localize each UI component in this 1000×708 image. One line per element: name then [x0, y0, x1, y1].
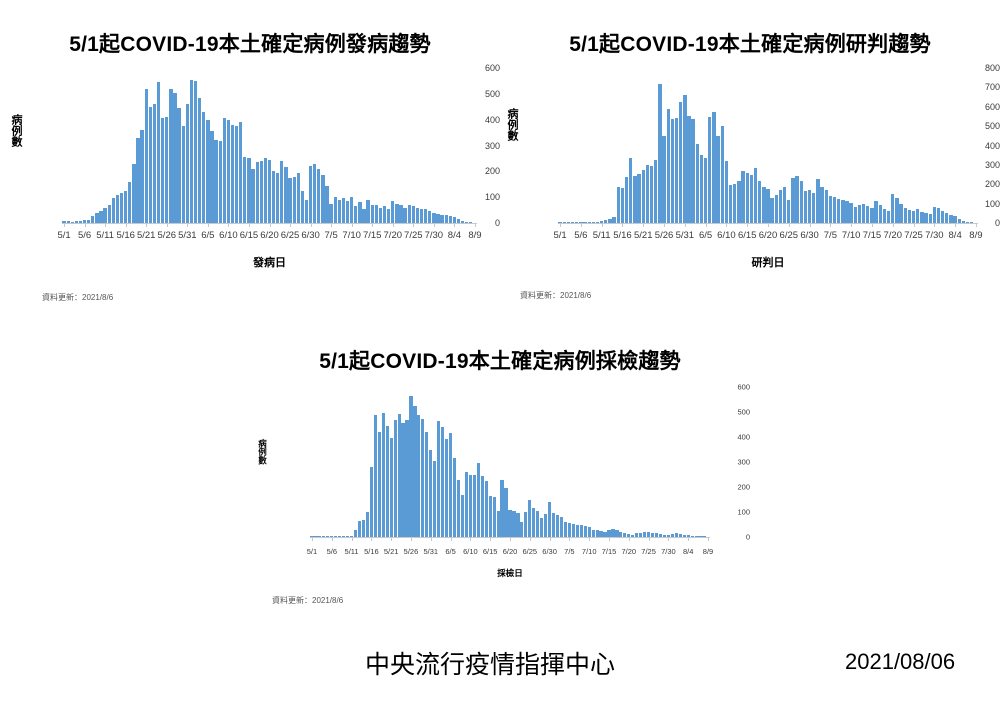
x-tick-mark — [434, 223, 435, 227]
x-tick-label: 7/25 — [641, 547, 656, 556]
bar — [675, 118, 678, 223]
x-tick-mark — [290, 223, 291, 227]
x-tick-label: 7/15 — [363, 230, 382, 241]
x-tick-label: 7/30 — [925, 230, 944, 241]
bar — [395, 204, 398, 223]
bar — [153, 104, 156, 223]
x-tick-mark — [589, 537, 590, 541]
x-tick-mark — [893, 223, 894, 227]
x-tick-mark — [629, 537, 630, 541]
x-tick-mark — [622, 223, 623, 227]
x-tick-mark — [768, 223, 769, 227]
bar — [912, 211, 915, 223]
x-tick-label: 7/15 — [863, 230, 882, 241]
chart-title-sampling: 5/1起COVID-19本土確定病例採檢趨勢 — [250, 345, 750, 375]
bar — [924, 213, 927, 223]
bar — [264, 158, 267, 223]
x-tick-mark — [581, 223, 582, 227]
chart-panel-sampling: 5/1起COVID-19本土確定病例採檢趨勢 病例數01002003004005… — [250, 345, 750, 630]
bar — [820, 187, 823, 223]
bar — [227, 120, 230, 223]
bar — [219, 141, 222, 223]
x-tick-mark — [976, 223, 977, 227]
x-tick-mark — [105, 223, 106, 227]
bar — [379, 208, 382, 224]
x-tick-label: 7/25 — [404, 230, 423, 241]
x-tick-label: 7/10 — [582, 547, 597, 556]
bar — [223, 118, 226, 223]
bar — [825, 190, 828, 223]
bar — [293, 177, 296, 224]
x-tick-mark — [470, 537, 471, 541]
x-tick-label: 6/30 — [800, 230, 819, 241]
bar — [95, 213, 98, 223]
bar — [457, 480, 460, 538]
bar — [424, 209, 427, 223]
bar — [721, 126, 724, 223]
bar — [362, 520, 365, 538]
bar — [140, 130, 143, 223]
bar — [413, 406, 416, 537]
bar — [783, 187, 786, 223]
bar — [186, 104, 189, 223]
bar — [256, 162, 259, 223]
bar — [568, 523, 571, 538]
x-axis-label-sampling: 採檢日 — [310, 567, 710, 579]
bar — [662, 136, 665, 223]
bar — [477, 463, 480, 537]
bar — [354, 206, 357, 223]
bar — [858, 205, 861, 223]
x-tick-mark — [431, 537, 432, 541]
bar — [235, 126, 238, 223]
bar — [374, 415, 377, 537]
bar — [532, 508, 535, 538]
bar — [637, 174, 640, 223]
x-tick-label: 5/11 — [96, 230, 114, 241]
bar — [845, 201, 848, 223]
chart-title-confirmation: 5/1起COVID-19本土確定病例研判趨勢 — [500, 28, 1000, 58]
x-tick-label: 8/4 — [949, 230, 962, 241]
bar — [149, 107, 152, 223]
bar — [528, 500, 531, 537]
bar — [390, 438, 393, 537]
x-tick-mark — [352, 223, 353, 227]
x-tick-mark — [747, 223, 748, 227]
x-tick-label: 6/25 — [780, 230, 799, 241]
bar — [231, 125, 234, 223]
x-tick-mark — [371, 537, 372, 541]
bar — [787, 200, 790, 223]
bar — [243, 157, 246, 223]
bar — [432, 213, 435, 223]
bar — [615, 530, 618, 537]
bar — [401, 423, 404, 537]
x-axis-label-onset: 發病日 — [62, 254, 477, 270]
bar — [214, 140, 217, 223]
x-tick-label: 6/5 — [201, 230, 214, 241]
x-axis-label-confirmation: 研判日 — [558, 254, 978, 270]
bar — [891, 194, 894, 223]
bar — [120, 193, 123, 223]
bar — [394, 420, 397, 537]
x-tick-mark — [475, 223, 476, 227]
bar — [696, 144, 699, 223]
bar — [297, 173, 300, 223]
bar — [520, 522, 523, 538]
bar — [391, 201, 394, 223]
chart-area-sampling: 病例數01002003004005006005/15/65/115/165/21… — [250, 377, 750, 612]
bar — [687, 116, 690, 223]
x-tick-mark — [560, 223, 561, 227]
bar — [754, 168, 757, 223]
bar — [173, 93, 176, 223]
chart-title-onset: 5/1起COVID-19本土確定病例發病趨勢 — [0, 28, 500, 58]
bar — [465, 472, 468, 537]
x-tick-label: 5/11 — [593, 230, 611, 241]
bar — [317, 169, 320, 223]
bar — [375, 205, 378, 223]
x-tick-mark — [668, 537, 669, 541]
x-tick-label: 6/15 — [483, 547, 498, 556]
x-tick-label: 6/10 — [219, 230, 238, 241]
x-tick-label: 6/20 — [503, 547, 518, 556]
bar — [190, 80, 193, 223]
bar — [338, 200, 341, 223]
bar — [268, 160, 271, 223]
bar — [251, 169, 254, 223]
x-tick-mark — [649, 537, 650, 541]
x-tick-label: 6/20 — [260, 230, 279, 241]
bar — [737, 181, 740, 223]
bar — [904, 208, 907, 223]
bar — [284, 167, 287, 223]
footer-organization: 中央流行疫情指揮中心 — [365, 645, 615, 681]
bar — [473, 475, 476, 537]
bar — [712, 112, 715, 223]
bar — [366, 200, 369, 223]
bar — [157, 82, 160, 223]
bar — [206, 120, 209, 223]
bar — [746, 173, 749, 223]
x-tick-mark — [664, 223, 665, 227]
bar — [804, 191, 807, 223]
x-tick-mark — [312, 537, 313, 541]
bar — [108, 205, 111, 223]
x-tick-label: 6/10 — [717, 230, 736, 241]
bar — [354, 530, 357, 537]
bar — [560, 517, 563, 537]
bar — [500, 480, 503, 537]
x-tick-label: 7/25 — [904, 230, 923, 241]
x-tick-mark — [332, 537, 333, 541]
bar — [658, 84, 661, 224]
update-note-confirmation: 資料更新：2021/8/6 — [520, 290, 591, 301]
bar — [161, 118, 164, 223]
x-tick-mark — [708, 537, 709, 541]
x-tick-label: 5/16 — [364, 547, 379, 556]
x-tick-mark — [187, 223, 188, 227]
x-tick-label: 6/30 — [301, 230, 320, 241]
bar — [576, 525, 579, 538]
x-tick-mark — [372, 223, 373, 227]
x-tick-mark — [352, 537, 353, 541]
x-tick-label: 6/15 — [240, 230, 259, 241]
x-tick-mark — [331, 223, 332, 227]
bar — [536, 511, 539, 537]
x-tick-label: 5/21 — [384, 547, 399, 556]
x-tick-label: 5/31 — [676, 230, 695, 241]
x-tick-label: 6/25 — [281, 230, 300, 241]
bar — [408, 205, 411, 223]
x-tick-label: 7/5 — [824, 230, 837, 241]
bar — [382, 413, 385, 537]
bar — [425, 432, 428, 537]
bar — [346, 201, 349, 223]
x-tick-mark — [688, 537, 689, 541]
bar — [841, 200, 844, 223]
x-tick-label: 5/6 — [574, 230, 587, 241]
chart-panel-confirmation: 5/1起COVID-19本土確定病例研判趨勢 病例數01002003004005… — [500, 28, 1000, 313]
x-tick-label: 6/5 — [699, 230, 712, 241]
bar — [169, 89, 172, 223]
bar — [708, 117, 711, 223]
x-tick-mark — [851, 223, 852, 227]
x-tick-label: 5/21 — [137, 230, 156, 241]
x-tick-label: 8/9 — [969, 230, 982, 241]
bar — [313, 164, 316, 223]
bar — [588, 527, 591, 538]
bar — [791, 178, 794, 223]
bar — [112, 198, 115, 223]
x-tick-label: 7/20 — [884, 230, 903, 241]
bar — [524, 512, 527, 537]
bar — [548, 502, 551, 537]
bar — [449, 433, 452, 538]
bar — [854, 207, 857, 223]
x-tick-label: 7/15 — [602, 547, 617, 556]
bar — [704, 158, 707, 223]
bar — [667, 109, 670, 223]
bar — [366, 512, 369, 537]
bar — [795, 176, 798, 223]
bar — [247, 158, 250, 223]
bar — [276, 173, 279, 223]
x-tick-mark — [643, 223, 644, 227]
chart-area-onset: 病例數01002003004005006005/15/65/115/165/21… — [0, 58, 500, 308]
bar — [417, 415, 420, 537]
bar — [800, 181, 803, 223]
x-tick-mark — [810, 223, 811, 227]
bar — [358, 521, 361, 537]
bar — [829, 196, 832, 223]
x-tick-mark — [609, 537, 610, 541]
bar — [280, 161, 283, 223]
bar — [182, 126, 185, 223]
bar — [272, 171, 275, 223]
x-tick-mark — [510, 537, 511, 541]
x-tick-label: 7/5 — [564, 547, 574, 556]
bar — [440, 215, 443, 223]
x-tick-mark — [550, 537, 551, 541]
bar — [437, 421, 440, 537]
x-tick-label: 7/5 — [325, 230, 338, 241]
x-tick-label: 5/11 — [345, 547, 359, 556]
bar — [607, 530, 610, 537]
x-tick-mark — [830, 223, 831, 227]
bar — [362, 209, 365, 223]
y-axis-label-confirmation: 病例數 — [506, 108, 517, 141]
bar — [194, 81, 197, 223]
bar — [99, 211, 102, 223]
x-tick-mark — [126, 223, 127, 227]
bar — [812, 193, 815, 223]
chart-panel-onset: 5/1起COVID-19本土確定病例發病趨勢 病例數01002003004005… — [0, 28, 500, 313]
bar — [387, 209, 390, 223]
chart-area-confirmation: 病例數01002003004005006007008005/15/65/115/… — [500, 58, 1000, 308]
bar — [321, 175, 324, 223]
x-tick-label: 5/26 — [655, 230, 674, 241]
plot-area-onset — [62, 68, 477, 223]
x-tick-label: 5/1 — [307, 547, 317, 556]
bar — [642, 170, 645, 223]
x-tick-label: 5/6 — [78, 230, 91, 241]
bar — [552, 513, 555, 537]
bar — [301, 191, 304, 223]
x-tick-mark — [311, 223, 312, 227]
bar — [933, 207, 936, 223]
bar — [128, 182, 131, 223]
bar — [469, 475, 472, 537]
bar — [887, 211, 890, 223]
bar — [288, 178, 291, 223]
bar — [497, 511, 500, 537]
bar — [198, 98, 201, 223]
bar — [725, 161, 728, 223]
x-tick-label: 6/25 — [522, 547, 537, 556]
bar — [729, 185, 732, 223]
x-tick-label: 5/16 — [613, 230, 632, 241]
bar — [862, 204, 865, 223]
bar — [145, 89, 148, 223]
bar — [309, 166, 312, 223]
bar — [646, 165, 649, 223]
bar — [770, 198, 773, 223]
x-tick-mark — [490, 537, 491, 541]
x-tick-label: 5/6 — [327, 547, 337, 556]
bar — [540, 518, 543, 537]
update-note-sampling: 資料更新：2021/8/6 — [272, 595, 343, 606]
x-tick-label: 7/20 — [621, 547, 636, 556]
bar — [428, 211, 431, 223]
bar — [691, 119, 694, 223]
bar — [808, 190, 811, 223]
bar — [584, 526, 587, 537]
bar — [654, 160, 657, 223]
x-tick-label: 8/9 — [468, 230, 481, 241]
bar — [953, 216, 956, 223]
x-tick-mark — [249, 223, 250, 227]
bar — [879, 205, 882, 223]
bar — [485, 481, 488, 537]
bar — [596, 530, 599, 537]
bar — [920, 212, 923, 223]
y-axis-label-onset: 病例數 — [10, 114, 21, 147]
x-tick-label: 8/4 — [448, 230, 461, 241]
x-tick-label: 7/30 — [425, 230, 444, 241]
y-axis-label-sampling: 病例數 — [258, 439, 267, 465]
bar — [508, 510, 511, 537]
x-tick-mark — [167, 223, 168, 227]
x-tick-label: 8/9 — [703, 547, 713, 556]
bar — [103, 208, 106, 223]
bar — [481, 476, 484, 537]
bar — [177, 108, 180, 223]
x-tick-mark — [789, 223, 790, 227]
bar — [412, 206, 415, 223]
bar — [679, 102, 682, 223]
bar — [895, 198, 898, 223]
bar — [883, 209, 886, 223]
x-tick-mark — [914, 223, 915, 227]
x-tick-label: 6/5 — [445, 547, 455, 556]
bar — [580, 525, 583, 537]
bar — [758, 181, 761, 223]
bar — [91, 216, 94, 223]
bar — [741, 171, 744, 223]
x-tick-label: 5/21 — [634, 230, 653, 241]
x-tick-mark — [270, 223, 271, 227]
x-tick-label: 5/26 — [158, 230, 177, 241]
bar — [516, 513, 519, 538]
footer-date: 2021/08/06 — [845, 649, 955, 675]
bar — [629, 158, 632, 223]
bar — [453, 458, 456, 537]
x-tick-label: 6/30 — [542, 547, 557, 556]
bar — [683, 95, 686, 223]
bar — [403, 208, 406, 224]
bar — [386, 426, 389, 537]
x-tick-mark — [393, 223, 394, 227]
x-tick-mark — [685, 223, 686, 227]
x-tick-mark — [726, 223, 727, 227]
bar — [633, 176, 636, 223]
bar — [329, 204, 332, 223]
bar — [416, 208, 419, 224]
bar — [650, 166, 653, 223]
bar — [489, 496, 492, 537]
bar — [611, 529, 614, 537]
x-tick-label: 5/26 — [404, 547, 419, 556]
x-tick-mark — [85, 223, 86, 227]
bar — [916, 209, 919, 223]
bar — [421, 419, 424, 537]
bar — [383, 206, 386, 223]
x-tick-label: 7/30 — [661, 547, 676, 556]
bar — [874, 201, 877, 223]
bar — [260, 161, 263, 223]
bar — [202, 112, 205, 223]
bar — [908, 210, 911, 223]
x-tick-label: 7/10 — [342, 230, 361, 241]
bar — [766, 189, 769, 223]
bar — [409, 396, 412, 537]
x-tick-mark — [955, 223, 956, 227]
bar — [512, 511, 515, 537]
bar — [775, 195, 778, 223]
x-tick-mark — [64, 223, 65, 227]
bar — [436, 214, 439, 223]
